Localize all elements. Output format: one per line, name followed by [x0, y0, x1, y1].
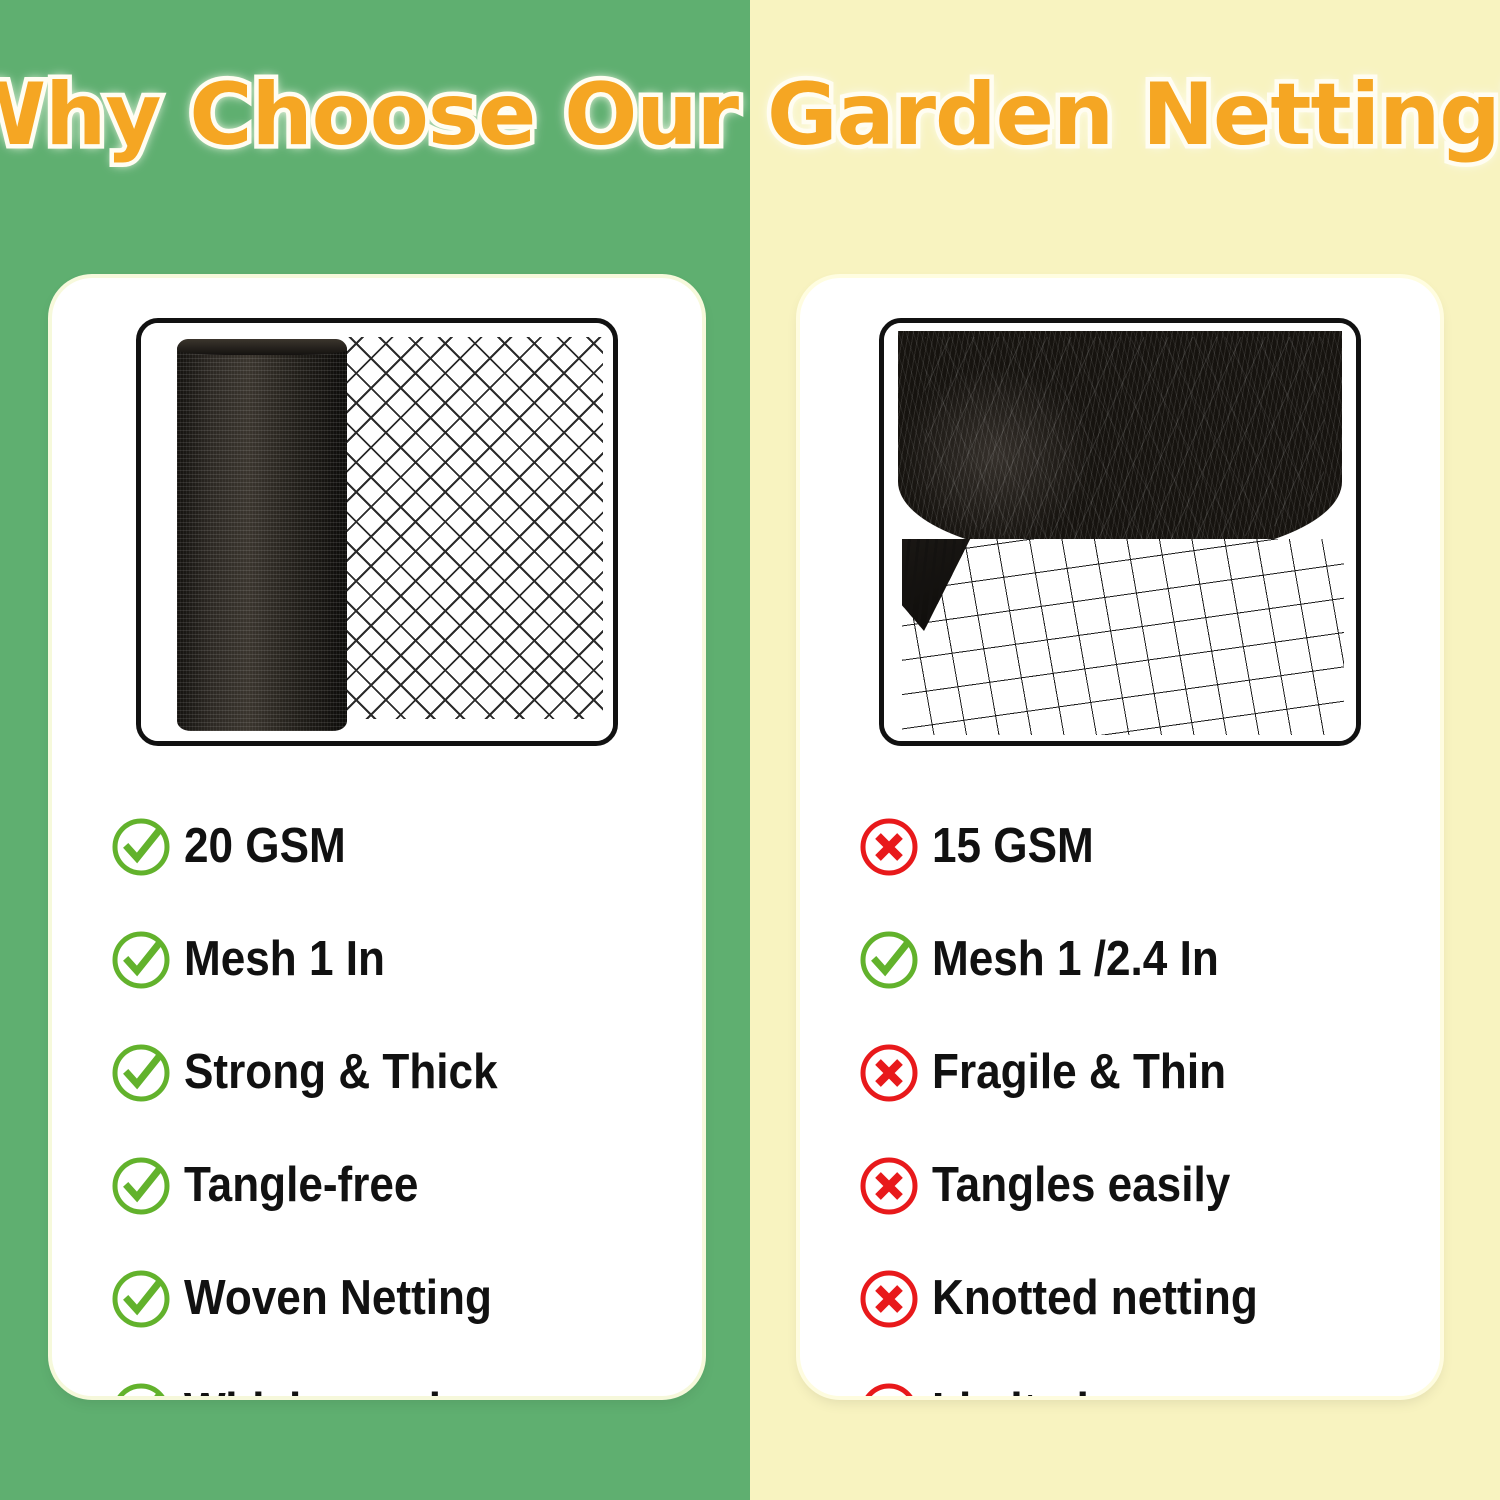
- feature-label: 15 GSM: [932, 822, 1094, 871]
- feature-label: Mesh 1 /2.4 In: [932, 935, 1219, 984]
- list-item: Mesh 1 /2.4 In: [800, 903, 1440, 1016]
- tangled-bundle-graphic: [898, 331, 1342, 559]
- feature-label: Strong & Thick: [184, 1048, 498, 1097]
- photo-right-inner: [884, 323, 1356, 741]
- comparison-card-other-product: 15 GSM Mesh 1 /2.4 In Fragile & Thin: [800, 278, 1440, 1396]
- cross-icon: [858, 1381, 920, 1397]
- netting-roll-graphic: [177, 339, 347, 731]
- knotted-mesh-graphic: [902, 539, 1344, 735]
- list-item: Knotted netting: [800, 1242, 1440, 1355]
- cross-icon: [858, 816, 920, 878]
- check-icon: [110, 816, 172, 878]
- list-item: Woven Netting: [52, 1242, 702, 1355]
- check-icon: [110, 1268, 172, 1330]
- feature-label: Mesh 1 In: [184, 935, 385, 984]
- diamond-mesh-graphic: [347, 337, 603, 719]
- check-icon: [110, 1155, 172, 1217]
- tangled-netting-photo: [879, 318, 1361, 746]
- feature-label: Knotted netting: [932, 1274, 1258, 1323]
- garden-netting-roll-photo: [136, 318, 618, 746]
- feature-list-right: 15 GSM Mesh 1 /2.4 In Fragile & Thin: [800, 790, 1440, 1396]
- feature-label: 20 GSM: [184, 822, 346, 871]
- cross-icon: [858, 1042, 920, 1104]
- check-icon: [110, 929, 172, 991]
- list-item: Fragile & Thin: [800, 1016, 1440, 1129]
- feature-label: Limited use: [932, 1387, 1177, 1396]
- list-item: Tangles easily: [800, 1129, 1440, 1242]
- list-item: Strong & Thick: [52, 1016, 702, 1129]
- feature-label: Fragile & Thin: [932, 1048, 1226, 1097]
- list-item: 20 GSM: [52, 790, 702, 903]
- check-icon: [110, 1042, 172, 1104]
- cross-icon: [858, 1155, 920, 1217]
- check-icon: [858, 929, 920, 991]
- feature-label: Tangles easily: [932, 1161, 1230, 1210]
- check-icon: [110, 1381, 172, 1397]
- list-item: Tangle-free: [52, 1129, 702, 1242]
- list-item: Limited use: [800, 1355, 1440, 1396]
- list-item: Mesh 1 In: [52, 903, 702, 1016]
- feature-label: Tangle-free: [184, 1161, 418, 1210]
- cross-icon: [858, 1268, 920, 1330]
- feature-label: Woven Netting: [184, 1274, 492, 1323]
- feature-label: Widely used: [184, 1387, 441, 1396]
- list-item: Widely used: [52, 1355, 702, 1396]
- feature-list-left: 20 GSM Mesh 1 In Strong & Thick: [52, 790, 702, 1396]
- comparison-card-our-product: 20 GSM Mesh 1 In Strong & Thick: [52, 278, 702, 1396]
- list-item: 15 GSM: [800, 790, 1440, 903]
- photo-left-inner: [141, 323, 613, 741]
